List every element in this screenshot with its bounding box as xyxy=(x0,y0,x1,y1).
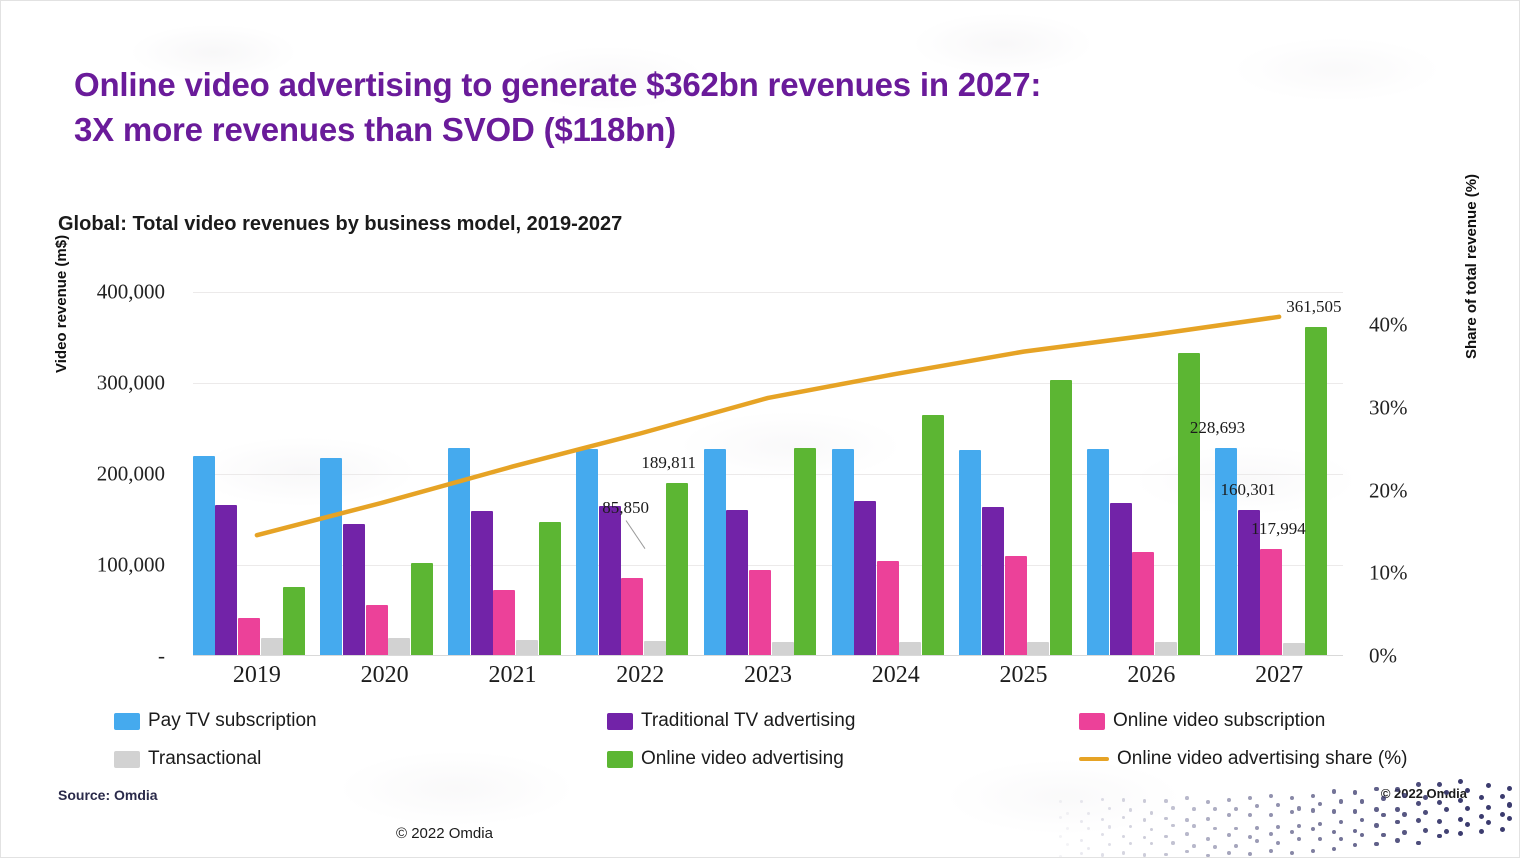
bar[interactable] xyxy=(366,605,388,656)
decorative-dot xyxy=(1297,824,1301,828)
decorative-dot xyxy=(1479,829,1484,834)
legend-swatch-online-video-advertising xyxy=(607,751,633,768)
decorative-dot xyxy=(1374,807,1379,812)
bar-group xyxy=(832,292,944,656)
secondary-y-axis-tick-label: 0% xyxy=(1369,644,1459,669)
bar[interactable] xyxy=(877,561,899,656)
decorative-dot xyxy=(1395,807,1400,812)
bar[interactable] xyxy=(899,642,921,656)
bar[interactable] xyxy=(666,483,688,656)
decorative-dot xyxy=(1360,833,1364,837)
decorative-dot xyxy=(1437,800,1442,805)
decorative-dot xyxy=(1087,827,1090,830)
bar[interactable] xyxy=(193,456,215,656)
decorative-dot xyxy=(1423,795,1428,800)
decorative-dot xyxy=(1360,799,1364,803)
bar[interactable] xyxy=(1178,353,1200,656)
bar[interactable] xyxy=(215,505,237,656)
bar[interactable] xyxy=(283,587,305,656)
bar[interactable] xyxy=(1132,552,1154,656)
decorative-dot xyxy=(1143,853,1146,856)
decorative-dot xyxy=(1255,826,1259,830)
decorative-dot xyxy=(1129,842,1132,845)
decorative-dot xyxy=(1101,818,1104,821)
bar[interactable] xyxy=(794,448,816,656)
decorative-dot xyxy=(1458,779,1463,784)
page-title: Online video advertising to generate $36… xyxy=(74,63,1414,153)
secondary-y-axis-tick-label: 10% xyxy=(1369,561,1459,586)
decorative-dot xyxy=(1500,812,1505,817)
decorative-dot xyxy=(1423,828,1428,833)
decorative-dot xyxy=(1290,810,1294,814)
decorative-dot xyxy=(1311,808,1315,812)
x-axis-tick-label: 2023 xyxy=(698,662,838,689)
decorative-dot xyxy=(1185,832,1189,836)
bar-group xyxy=(1215,292,1327,656)
decorative-dot xyxy=(1353,790,1357,794)
decorative-dot xyxy=(1395,838,1400,843)
decorative-dot xyxy=(1423,810,1428,815)
decorative-dot xyxy=(1486,783,1491,788)
decorative-dot xyxy=(1164,817,1168,821)
decorative-dot xyxy=(1108,843,1111,846)
decorative-dot xyxy=(1276,803,1280,807)
decorative-dot xyxy=(1206,854,1210,857)
bar[interactable] xyxy=(539,522,561,656)
legend-swatch-online-video-subscription xyxy=(1079,713,1105,730)
bar-group xyxy=(320,292,432,656)
decorative-dot xyxy=(1276,841,1280,845)
decorative-dot xyxy=(1066,812,1069,815)
decorative-dot xyxy=(1234,807,1238,811)
y-axis-tick-label: - xyxy=(5,644,165,669)
decorative-dot xyxy=(1087,812,1090,815)
bar[interactable] xyxy=(1087,449,1109,656)
y-axis-tick-label: 300,000 xyxy=(5,371,165,396)
bar-data-label: 361,505 xyxy=(1286,297,1341,317)
bar[interactable] xyxy=(704,449,726,656)
x-axis-tick-label: 2021 xyxy=(442,662,582,689)
decorative-dot xyxy=(1311,849,1315,853)
decorative-dot xyxy=(1087,847,1090,850)
bar[interactable] xyxy=(388,638,410,656)
legend-label-online-video-subscription: Online video subscription xyxy=(1113,710,1325,732)
decorative-dot xyxy=(1290,830,1294,834)
x-axis-tick-label: 2024 xyxy=(826,662,966,689)
decorative-dot xyxy=(1171,824,1175,828)
decorative-dot xyxy=(1297,806,1301,810)
bar-group xyxy=(959,292,1071,656)
decorative-dot xyxy=(1444,807,1449,812)
decorative-dot xyxy=(1500,794,1505,799)
bar[interactable] xyxy=(772,642,794,656)
bar[interactable] xyxy=(1305,327,1327,656)
bar[interactable] xyxy=(261,638,283,656)
bar[interactable] xyxy=(922,415,944,656)
bar-data-label: 117,994 xyxy=(1251,519,1306,539)
decorative-dot xyxy=(1381,813,1386,818)
decorative-dot xyxy=(1269,813,1273,817)
legend-item-online-video-advertising[interactable]: Online video advertising xyxy=(607,748,844,770)
decorative-dot xyxy=(1066,843,1069,846)
x-axis-tick-label: 2019 xyxy=(187,662,327,689)
decorative-dot xyxy=(1339,820,1343,824)
x-axis-tick-label: 2020 xyxy=(315,662,455,689)
decorative-dot xyxy=(1248,796,1252,800)
legend-label-pay-tv-subscription: Pay TV subscription xyxy=(148,710,317,732)
decorative-dot xyxy=(1486,820,1491,825)
decorative-dot xyxy=(1248,835,1252,839)
decorative-dot xyxy=(1416,818,1421,823)
decorative-dot xyxy=(1150,842,1153,845)
decorative-dot-pattern xyxy=(1049,779,1519,857)
decorative-dot xyxy=(1101,853,1104,856)
bar[interactable] xyxy=(1155,642,1177,656)
decorative-dot xyxy=(1479,814,1484,819)
decorative-dot xyxy=(1479,795,1484,800)
decorative-dot xyxy=(1353,829,1357,833)
bar[interactable] xyxy=(411,563,433,656)
bar[interactable] xyxy=(493,590,515,656)
decorative-dot xyxy=(1437,782,1442,787)
bar[interactable] xyxy=(1215,448,1237,656)
legend-label-transactional: Transactional xyxy=(148,748,261,770)
bar[interactable] xyxy=(621,578,643,656)
bar[interactable] xyxy=(726,510,748,657)
decorative-dot xyxy=(1297,837,1301,841)
decorative-dot xyxy=(1465,788,1470,793)
decorative-dot xyxy=(1143,799,1146,802)
decorative-dot xyxy=(1122,835,1125,838)
bar[interactable] xyxy=(1005,556,1027,656)
decorative-dot xyxy=(1458,831,1463,836)
legend-swatch-online-video-advertising-share xyxy=(1079,757,1109,761)
decorative-dot xyxy=(1311,827,1315,831)
decorative-dot xyxy=(1255,804,1259,808)
decorative-dot xyxy=(1402,830,1407,835)
decorative-dot xyxy=(1458,817,1463,822)
chart-subtitle: Global: Total video revenues by business… xyxy=(58,213,622,236)
bar[interactable] xyxy=(471,511,493,656)
decorative-dot xyxy=(1101,833,1104,836)
decorative-dot xyxy=(1192,844,1196,848)
decorative-dot xyxy=(1437,834,1442,839)
decorative-dot xyxy=(1374,787,1379,792)
legend-label-online-video-advertising-share: Online video advertising share (%) xyxy=(1117,748,1407,770)
decorative-dot xyxy=(1080,852,1083,855)
decorative-dot xyxy=(1444,790,1449,795)
decorative-dot xyxy=(1185,818,1189,822)
decorative-dot xyxy=(1332,809,1336,813)
bar[interactable] xyxy=(749,570,771,656)
decorative-dot xyxy=(1206,800,1210,804)
decorative-dot xyxy=(1206,837,1210,841)
secondary-y-axis-tick-label: 20% xyxy=(1369,478,1459,503)
decorative-dot xyxy=(1437,819,1442,824)
decorative-dot xyxy=(1227,798,1231,802)
secondary-y-axis-tick-label: 30% xyxy=(1369,395,1459,420)
decorative-dot xyxy=(1353,809,1357,813)
bar-group xyxy=(704,292,816,656)
decorative-dot xyxy=(1108,825,1111,828)
decorative-dot xyxy=(1353,843,1357,847)
legend-row-1: Pay TV subscription Traditional TV adver… xyxy=(114,710,1444,748)
bar[interactable] xyxy=(644,641,666,656)
legend-item-online-video-subscription[interactable]: Online video subscription xyxy=(1079,710,1325,732)
bar[interactable] xyxy=(516,640,538,656)
legend-item-transactional[interactable]: Transactional xyxy=(114,748,261,770)
decorative-dot xyxy=(1192,824,1196,828)
decorative-dot xyxy=(1059,855,1062,857)
decorative-dot xyxy=(1374,842,1379,847)
legend-label-online-video-advertising: Online video advertising xyxy=(641,748,844,770)
decorative-dot xyxy=(1101,798,1104,801)
bar-group xyxy=(576,292,688,656)
decorative-dot xyxy=(1269,794,1273,798)
decorative-dot xyxy=(1507,802,1512,807)
decorative-dot xyxy=(1059,835,1062,838)
x-axis-tick-label: 2027 xyxy=(1209,662,1349,689)
decorative-dot xyxy=(1234,844,1238,848)
decorative-dot xyxy=(1234,827,1238,831)
legend-label-traditional-tv-advertising: Traditional TV advertising xyxy=(641,710,855,732)
decorative-dot xyxy=(1332,830,1336,834)
bar[interactable] xyxy=(238,618,260,656)
decorative-dot xyxy=(1108,807,1111,810)
bar[interactable] xyxy=(576,449,598,656)
bar[interactable] xyxy=(1110,503,1132,656)
x-axis-tick-label: 2022 xyxy=(570,662,710,689)
bar[interactable] xyxy=(1027,642,1049,656)
decorative-dot xyxy=(1255,839,1259,843)
decorative-dot xyxy=(1311,794,1315,798)
decorative-dot xyxy=(1332,847,1336,851)
decorative-dot xyxy=(1164,799,1168,803)
bar-data-label: 85,850 xyxy=(602,498,649,518)
decorative-dot xyxy=(1381,796,1386,801)
decorative-dot xyxy=(1150,828,1153,831)
bar-group xyxy=(448,292,560,656)
bar-data-label: 228,693 xyxy=(1190,418,1245,438)
decorative-dot xyxy=(1360,818,1364,822)
slide-canvas: Online video advertising to generate $36… xyxy=(0,0,1520,858)
bar[interactable] xyxy=(1260,549,1282,656)
decorative-dot xyxy=(1395,787,1400,792)
bar-group xyxy=(193,292,305,656)
decorative-dot xyxy=(1185,850,1189,854)
decorative-dot xyxy=(1458,798,1463,803)
decorative-dot xyxy=(1129,808,1132,811)
bar[interactable] xyxy=(448,448,470,656)
legend-item-traditional-tv-advertising[interactable]: Traditional TV advertising xyxy=(607,710,855,732)
bar-group xyxy=(1087,292,1199,656)
decorative-dot xyxy=(1290,851,1294,855)
plot-area xyxy=(193,292,1343,656)
decorative-dot xyxy=(1374,823,1379,828)
decorative-dot xyxy=(1339,799,1343,803)
bar[interactable] xyxy=(959,450,981,656)
decorative-dot xyxy=(1507,786,1512,791)
legend-item-online-video-advertising-share[interactable]: Online video advertising share (%) xyxy=(1079,748,1407,770)
bar[interactable] xyxy=(1050,380,1072,656)
decorative-dot xyxy=(1500,827,1505,832)
decorative-dot xyxy=(1066,827,1069,830)
secondary-y-axis-tick-label: 40% xyxy=(1369,313,1459,338)
decorative-dot xyxy=(1213,845,1217,849)
decorative-dot xyxy=(1164,853,1168,857)
decorative-dot xyxy=(1122,816,1125,819)
decorative-dot xyxy=(1059,816,1062,819)
legend-item-pay-tv-subscription[interactable]: Pay TV subscription xyxy=(114,710,317,732)
decorative-dot xyxy=(1416,782,1421,787)
decorative-dot xyxy=(1318,822,1322,826)
decorative-dot xyxy=(1318,837,1322,841)
decorative-dot xyxy=(1192,807,1196,811)
decorative-dot xyxy=(1227,813,1231,817)
decorative-dot xyxy=(1395,820,1400,825)
decorative-dot xyxy=(1213,827,1217,831)
bar[interactable] xyxy=(343,524,365,656)
decorative-dot xyxy=(1507,816,1512,821)
x-axis-tick-label: 2025 xyxy=(954,662,1094,689)
bar[interactable] xyxy=(599,506,621,656)
decorative-dot xyxy=(1381,833,1386,838)
decorative-dot xyxy=(1269,832,1273,836)
secondary-y-axis-title: Share of total revenue (%) xyxy=(1463,174,1480,359)
bar[interactable] xyxy=(854,501,876,656)
decorative-dot xyxy=(1080,820,1083,823)
x-axis-tick-label: 2026 xyxy=(1081,662,1221,689)
bar[interactable] xyxy=(832,449,854,656)
decorative-dot xyxy=(1164,835,1168,839)
y-axis-tick-label: 100,000 xyxy=(5,553,165,578)
decorative-dot xyxy=(1150,811,1153,814)
decorative-dot xyxy=(1465,822,1470,827)
decorative-dot xyxy=(1143,818,1146,821)
decorative-dot xyxy=(1143,836,1146,839)
decorative-dot xyxy=(1122,851,1125,854)
decorative-dot xyxy=(1290,796,1294,800)
decorative-dot xyxy=(1416,841,1421,846)
decorative-dot xyxy=(1080,800,1083,803)
decorative-dot xyxy=(1402,793,1407,798)
page-title-line-2: 3X more revenues than SVOD ($118bn) xyxy=(74,108,1414,153)
decorative-dot xyxy=(1227,833,1231,837)
decorative-dot xyxy=(1465,806,1470,811)
legend-swatch-transactional xyxy=(114,751,140,768)
bar-data-label: 160,301 xyxy=(1221,480,1276,500)
bar-data-label: 189,811 xyxy=(641,453,696,473)
decorative-dot xyxy=(1269,849,1273,853)
decorative-dot xyxy=(1059,800,1062,803)
decorative-dot xyxy=(1213,807,1217,811)
y-axis-tick-label: 200,000 xyxy=(5,462,165,487)
x-axis-line xyxy=(193,655,1343,656)
chart-legend: Pay TV subscription Traditional TV adver… xyxy=(114,710,1444,786)
decorative-dot xyxy=(1444,829,1449,834)
decorative-dot xyxy=(1339,837,1343,841)
decorative-dot xyxy=(1122,798,1125,801)
source-note: Source: Omdia xyxy=(58,787,158,803)
decorative-dot xyxy=(1486,805,1491,810)
legend-swatch-pay-tv-subscription xyxy=(114,713,140,730)
decorative-dot xyxy=(1129,825,1132,828)
decorative-dot xyxy=(1248,852,1252,856)
decorative-dot xyxy=(1185,796,1189,800)
decorative-dot xyxy=(1171,806,1175,810)
decorative-dot xyxy=(1416,801,1421,806)
decorative-dot xyxy=(1206,817,1210,821)
y-axis-tick-label: 400,000 xyxy=(5,280,165,305)
bar[interactable] xyxy=(982,507,1004,656)
decorative-dot xyxy=(1080,839,1083,842)
decorative-dot xyxy=(1248,813,1252,817)
decorative-dot xyxy=(1332,789,1336,793)
legend-swatch-traditional-tv-advertising xyxy=(607,713,633,730)
page-title-line-1: Online video advertising to generate $36… xyxy=(74,63,1414,108)
decorative-dot xyxy=(1276,825,1280,829)
bar[interactable] xyxy=(320,458,342,656)
copyright-center: © 2022 Omdia xyxy=(396,825,493,842)
decorative-dot xyxy=(1402,812,1407,817)
decorative-dot xyxy=(1171,841,1175,845)
decorative-dot xyxy=(1318,802,1322,806)
decorative-dot xyxy=(1227,851,1231,855)
